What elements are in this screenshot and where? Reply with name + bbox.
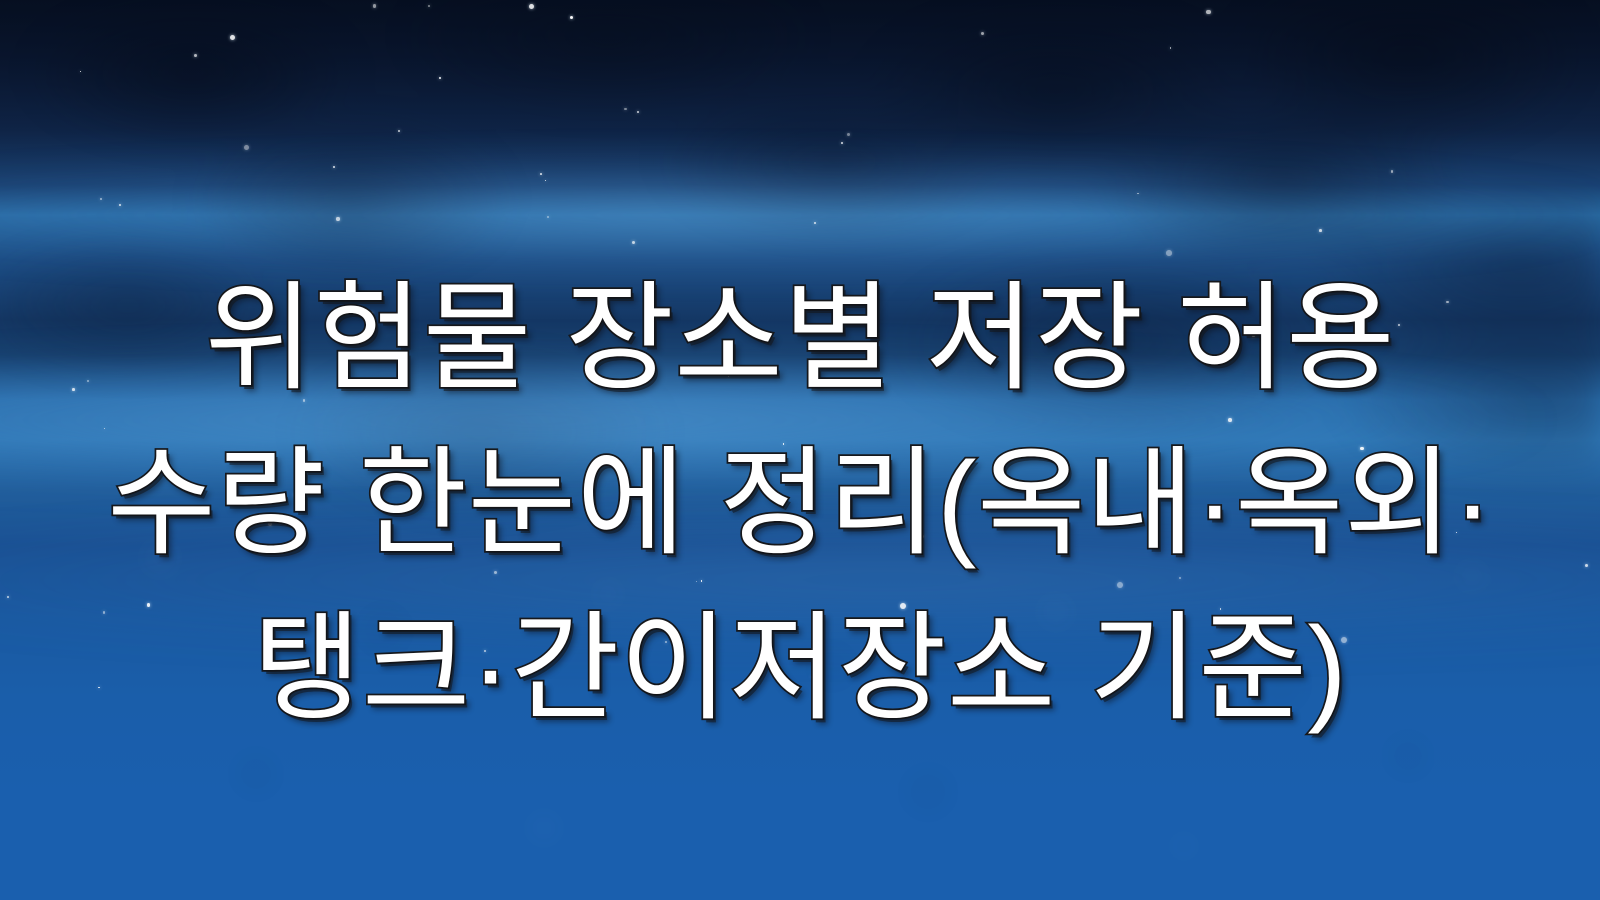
title-block: 위험물 장소별 저장 허용 수량 한눈에 정리(옥내·옥외·탱크·간이저장소 기…: [0, 178, 1600, 831]
slide-title: 위험물 장소별 저장 허용 수량 한눈에 정리(옥내·옥외·탱크·간이저장소 기…: [90, 257, 1510, 752]
title-slide: 위험물 장소별 저장 허용 수량 한눈에 정리(옥내·옥외·탱크·간이저장소 기…: [0, 0, 1600, 900]
